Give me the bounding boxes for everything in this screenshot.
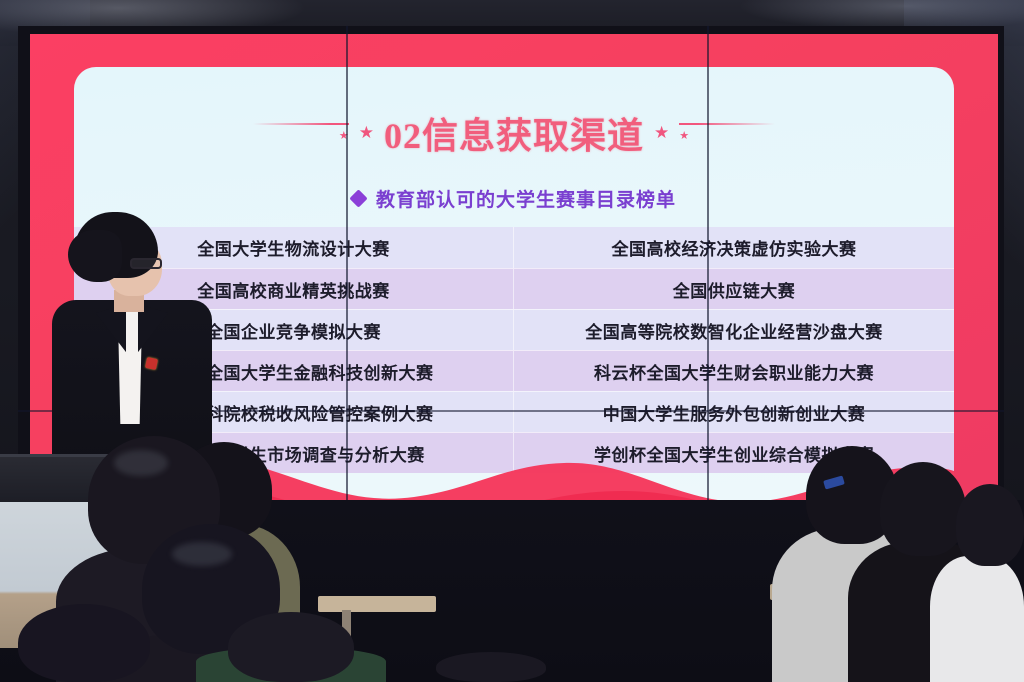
slide-title-row: ★ ★ 02信息获取渠道 ★ ★ <box>74 107 954 159</box>
slide-subtitle-row: 教育部认可的大学生赛事目录榜单 <box>74 185 954 212</box>
star-icon-left: ★ <box>359 124 374 141</box>
video-wall-seam-vertical-1 <box>346 26 348 569</box>
glasses-icon <box>130 258 162 269</box>
table-cell-right: 全国供应链大赛 <box>514 269 954 309</box>
desk-center <box>318 596 436 612</box>
table-cell-right: 科云杯全国大学生财会职业能力大赛 <box>514 351 954 391</box>
audience-head <box>956 484 1024 566</box>
presenter-badge <box>145 357 158 370</box>
title-decoration-left: ★ <box>253 123 349 143</box>
star-icon-small-right: ★ <box>679 131 689 142</box>
star-icon-right: ★ <box>654 124 669 141</box>
title-decoration-right: ★ <box>679 123 775 143</box>
title-rule-left-top <box>253 123 349 125</box>
audience-body <box>930 556 1024 682</box>
diamond-bullet-icon <box>349 189 367 207</box>
table-cell-right: 全国高校经济决策虚仿实验大赛 <box>514 227 954 268</box>
hair-sheen <box>114 450 168 476</box>
table-cell-right: 全国高等院校数智化企业经营沙盘大赛 <box>514 310 954 350</box>
audience-head <box>880 462 966 556</box>
audience-head <box>228 612 354 682</box>
hair-sheen <box>172 542 232 566</box>
presenter <box>52 212 212 477</box>
title-rule-right-top <box>679 123 775 125</box>
slide-title: 02信息获取渠道 <box>384 107 644 159</box>
classroom-scene: ★ ★ 02信息获取渠道 ★ ★ 教育部认可的大学生赛事目录榜单 全国大 <box>0 0 1024 682</box>
audience-head <box>18 604 150 682</box>
slide-subtitle: 教育部认可的大学生赛事目录榜单 <box>376 185 676 212</box>
video-wall-seam-vertical-2 <box>707 26 709 569</box>
presenter-hair-side <box>68 230 122 282</box>
audience-head <box>436 652 546 682</box>
